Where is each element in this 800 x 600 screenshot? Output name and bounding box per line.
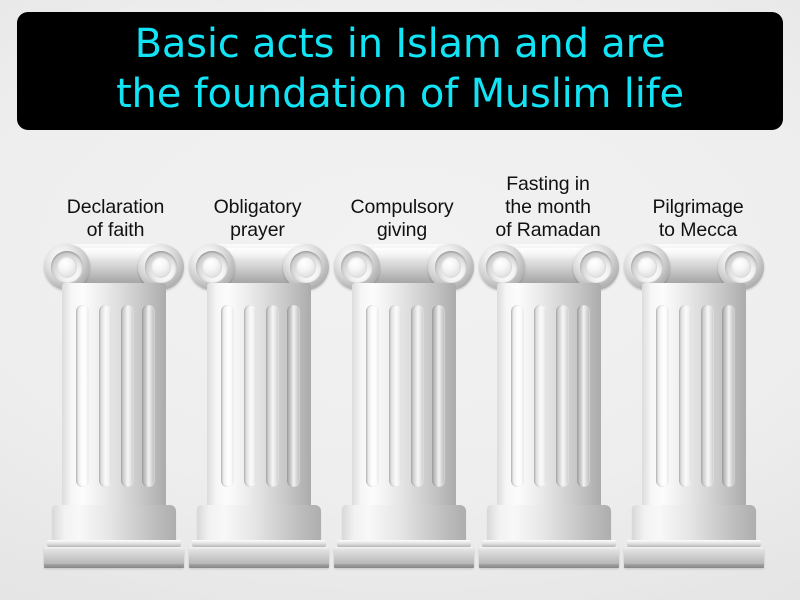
pillar-column-sawm (479, 243, 619, 568)
column-plinth (624, 547, 764, 568)
flute (266, 305, 279, 487)
column-base-block (487, 505, 611, 541)
pillars-row (0, 0, 800, 600)
flute (142, 305, 155, 487)
pillar-column-hajj (624, 243, 764, 568)
column-shaft (497, 283, 601, 508)
column-base-slab (47, 540, 181, 547)
column-base-slab (192, 540, 326, 547)
flute (432, 305, 445, 487)
flute (121, 305, 134, 487)
pillar-column-shahada (44, 243, 184, 568)
pillar-column-salah (189, 243, 329, 568)
column-plinth (479, 547, 619, 568)
flute (244, 305, 257, 487)
flute (76, 305, 89, 487)
flute (577, 305, 590, 487)
pillar-column-zakat (334, 243, 474, 568)
flute (366, 305, 379, 487)
flute (287, 305, 300, 487)
column-base-block (632, 505, 756, 541)
flute (221, 305, 234, 487)
column-base-slab (627, 540, 761, 547)
column-flutes (352, 283, 456, 508)
flute (534, 305, 547, 487)
column-flutes (642, 283, 746, 508)
column-base-slab (337, 540, 471, 547)
flute (679, 305, 692, 487)
column-flutes (62, 283, 166, 508)
column-base-slab (482, 540, 616, 547)
flute (411, 305, 424, 487)
column-plinth (44, 547, 184, 568)
column-plinth (189, 547, 329, 568)
column-shaft (352, 283, 456, 508)
flute (722, 305, 735, 487)
column-plinth (334, 547, 474, 568)
column-shaft (207, 283, 311, 508)
flute (701, 305, 714, 487)
flute (556, 305, 569, 487)
column-flutes (497, 283, 601, 508)
infographic-canvas: Basic acts in Islam and are the foundati… (0, 0, 800, 600)
column-flutes (207, 283, 311, 508)
column-shaft (642, 283, 746, 508)
flute (511, 305, 524, 487)
flute (656, 305, 669, 487)
column-shaft (62, 283, 166, 508)
flute (99, 305, 112, 487)
column-base-block (52, 505, 176, 541)
column-base-block (342, 505, 466, 541)
flute (389, 305, 402, 487)
column-base-block (197, 505, 321, 541)
